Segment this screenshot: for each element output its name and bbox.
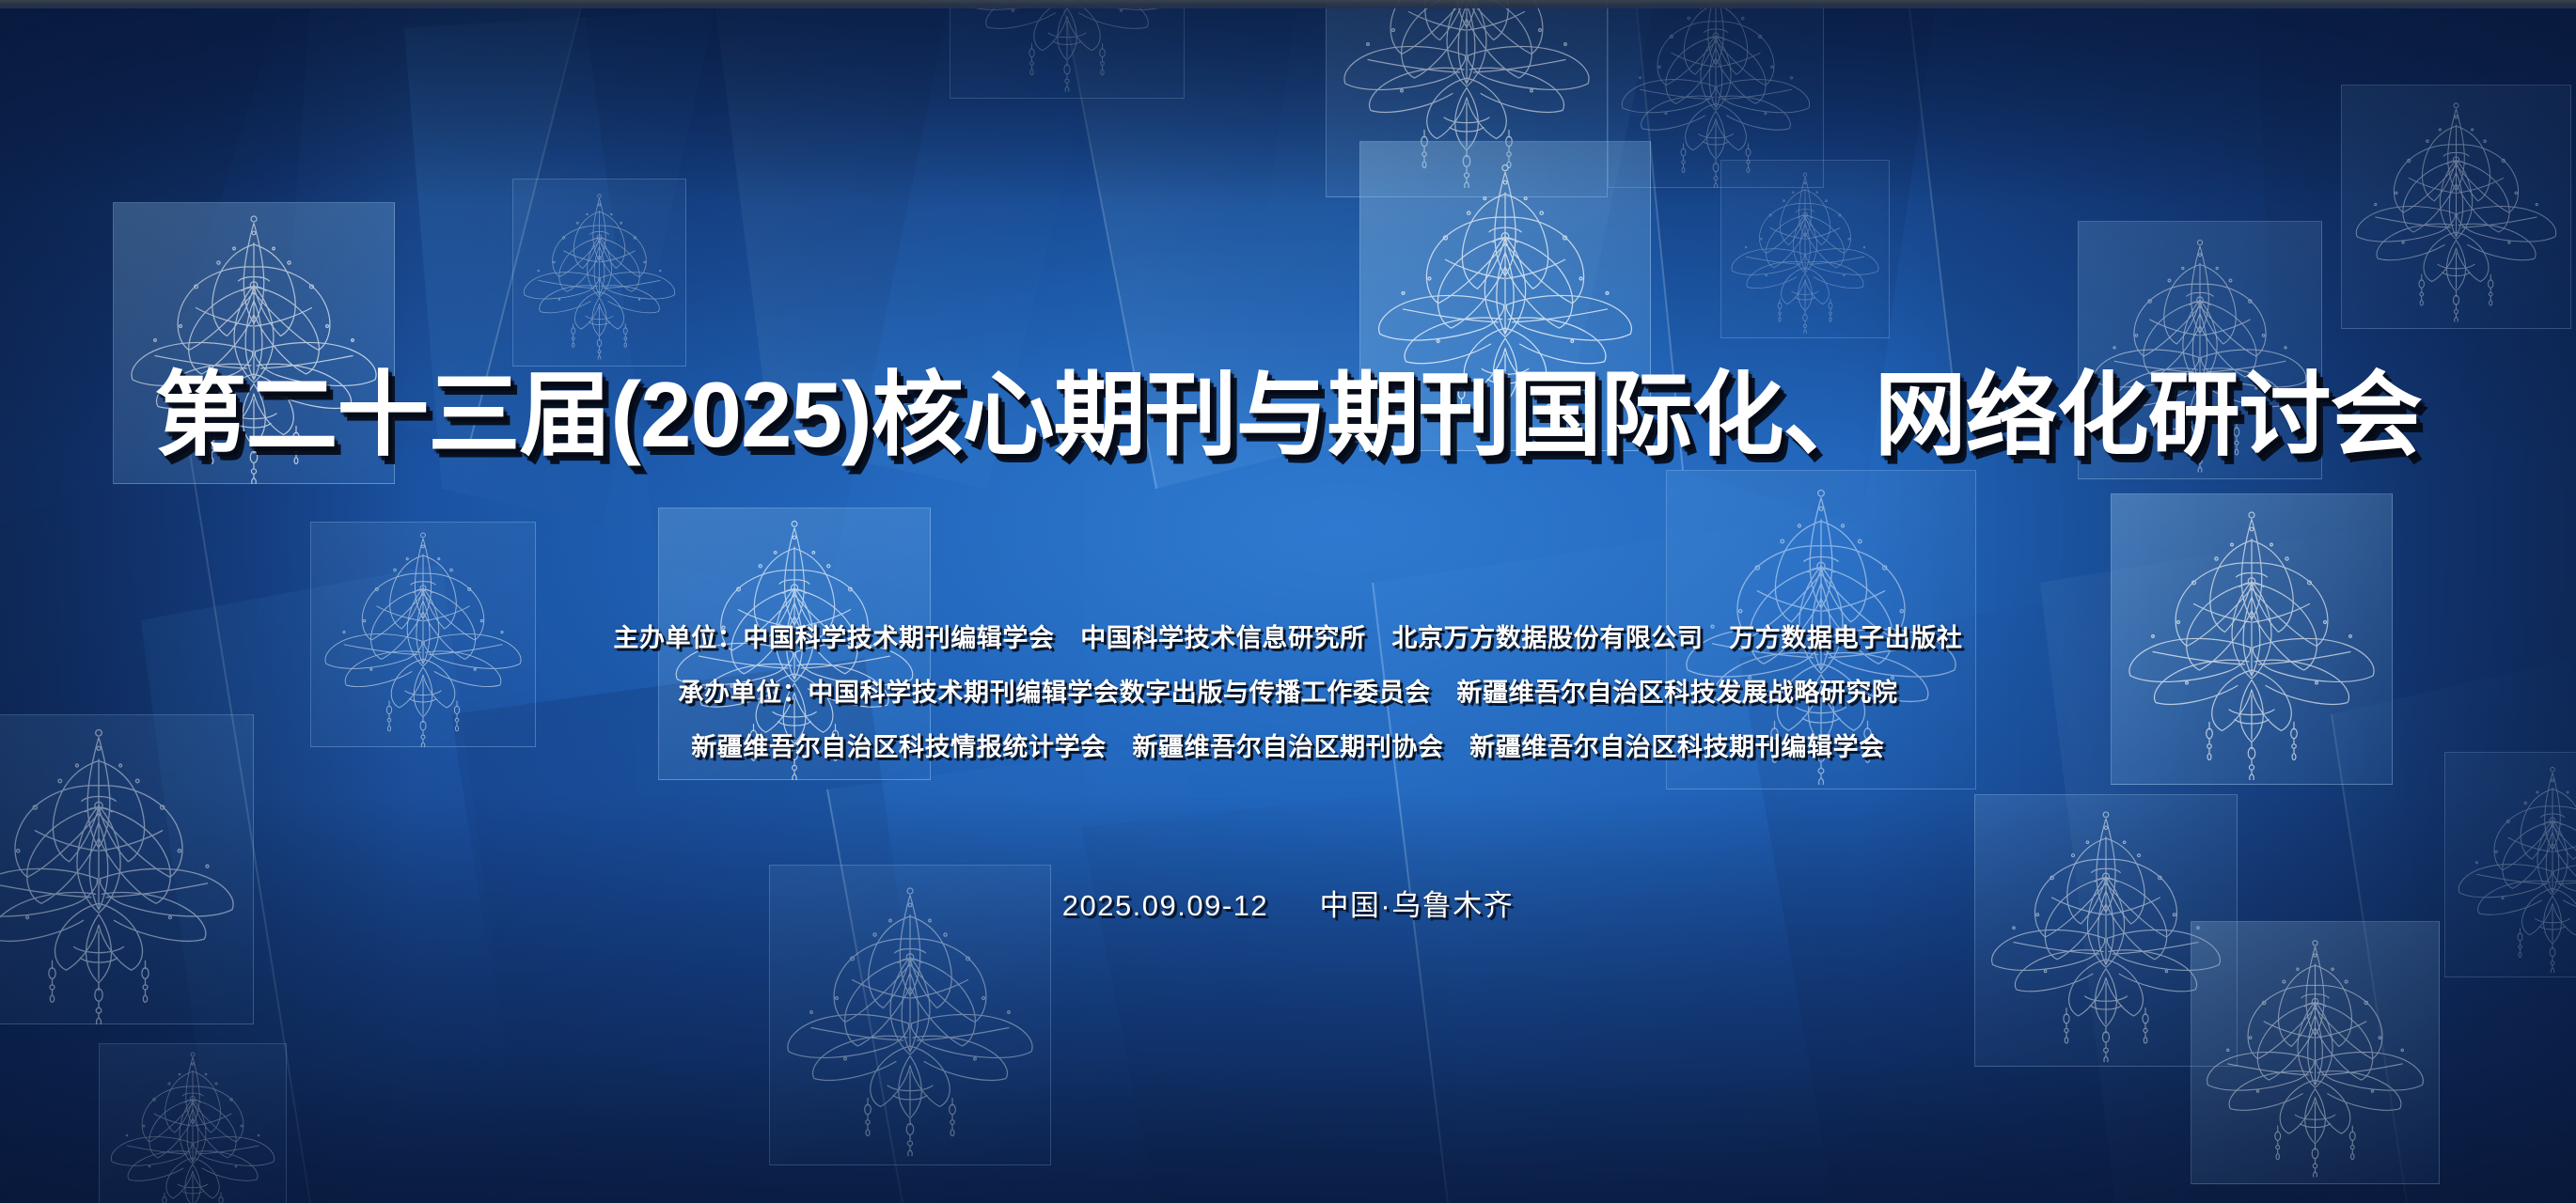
banner-title: 第二十三届(2025)核心期刊与期刊国际化、网络化研讨会 — [0, 367, 2576, 464]
conference-banner: 第二十三届(2025)核心期刊与期刊国际化、网络化研讨会 主办单位：中国科学技术… — [0, 0, 2576, 1203]
organizer-line-coorganizer-1: 承办单位：中国科学技术期刊编辑学会数字出版与传播工作委员会 新疆维吾尔自治区科技… — [0, 665, 2576, 720]
organizer-line-coorganizer-2: 新疆维吾尔自治区科技情报统计学会 新疆维吾尔自治区期刊协会 新疆维吾尔自治区科技… — [0, 720, 2576, 774]
organizer-block: 主办单位：中国科学技术期刊编辑学会 中国科学技术信息研究所 北京万方数据股份有限… — [0, 611, 2576, 774]
event-details: 2025.09.09-12 中国·乌鲁木齐 — [0, 882, 2576, 924]
event-date: 2025.09.09-12 — [1062, 889, 1268, 922]
organizer-line-host: 主办单位：中国科学技术期刊编辑学会 中国科学技术信息研究所 北京万方数据股份有限… — [0, 611, 2576, 665]
event-location: 中国·乌鲁木齐 — [1319, 889, 1514, 922]
